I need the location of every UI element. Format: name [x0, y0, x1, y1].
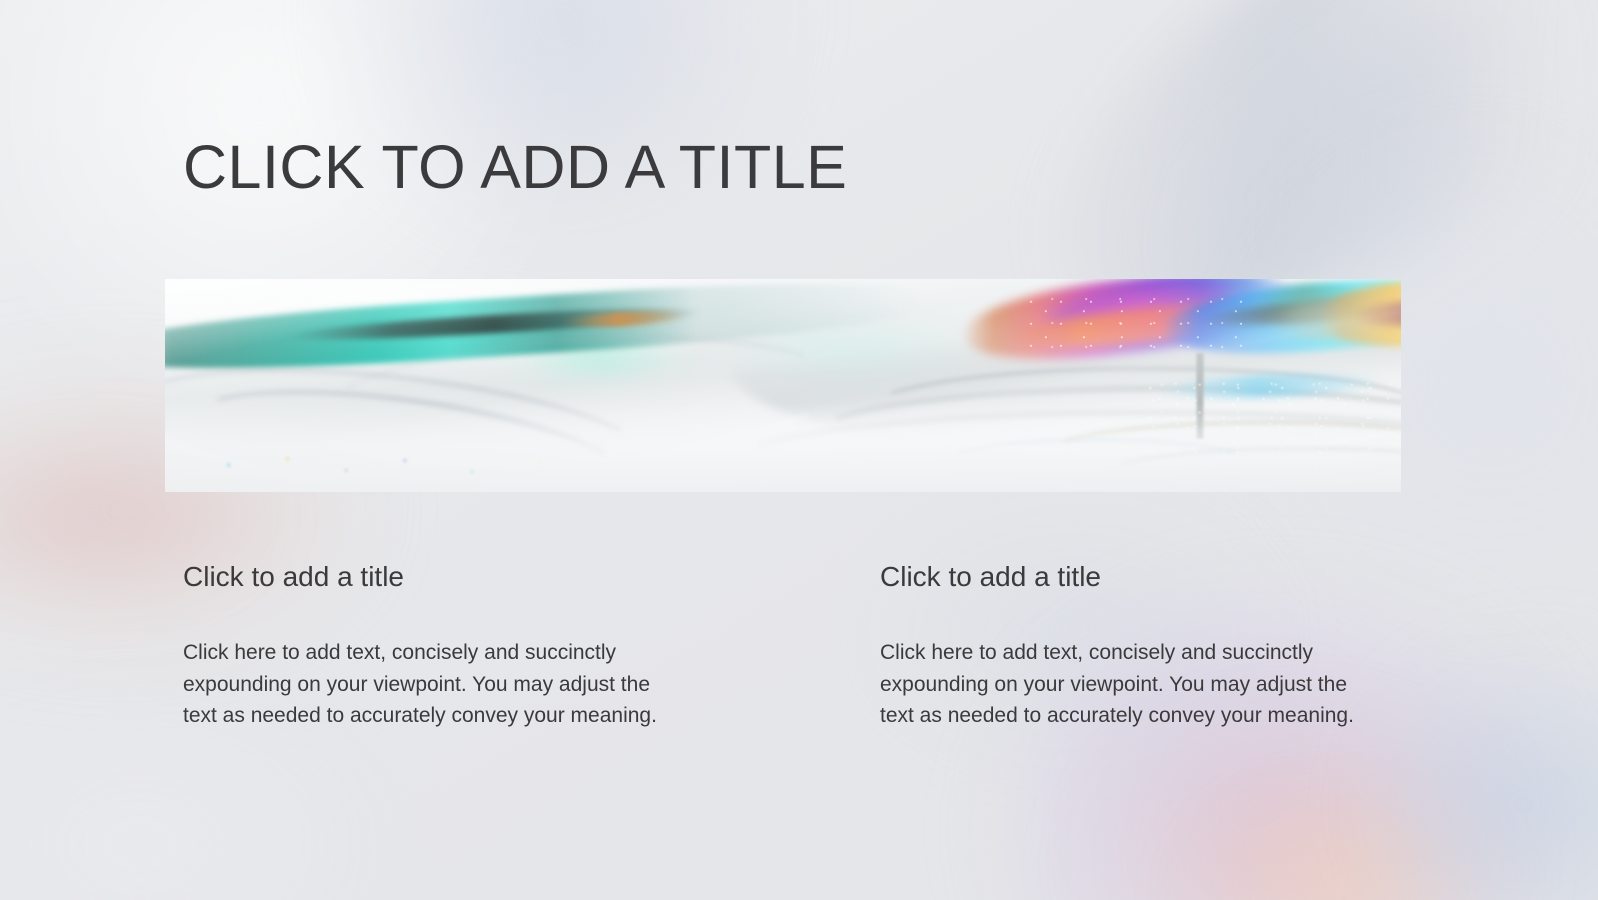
slide-title[interactable]: CLICK TO ADD A TITLE — [183, 133, 847, 201]
bokeh-bottom-right-pink — [1090, 720, 1510, 900]
banner-image[interactable] — [165, 279, 1401, 492]
column-right-heading[interactable]: Click to add a title — [880, 560, 1480, 593]
column-right-body[interactable]: Click here to add text, concisely and su… — [880, 593, 1360, 732]
column-left-body[interactable]: Click here to add text, concisely and su… — [183, 593, 663, 732]
column-left-heading[interactable]: Click to add a title — [183, 560, 783, 593]
bokeh-bottom-right-peach — [1180, 800, 1500, 900]
banner-bottom-fade — [165, 279, 1401, 492]
content-column-left: Click to add a title Click here to add t… — [183, 560, 783, 732]
content-column-right: Click to add a title Click here to add t… — [880, 560, 1480, 732]
presentation-slide: CLICK TO ADD A TITLE — [0, 0, 1598, 900]
